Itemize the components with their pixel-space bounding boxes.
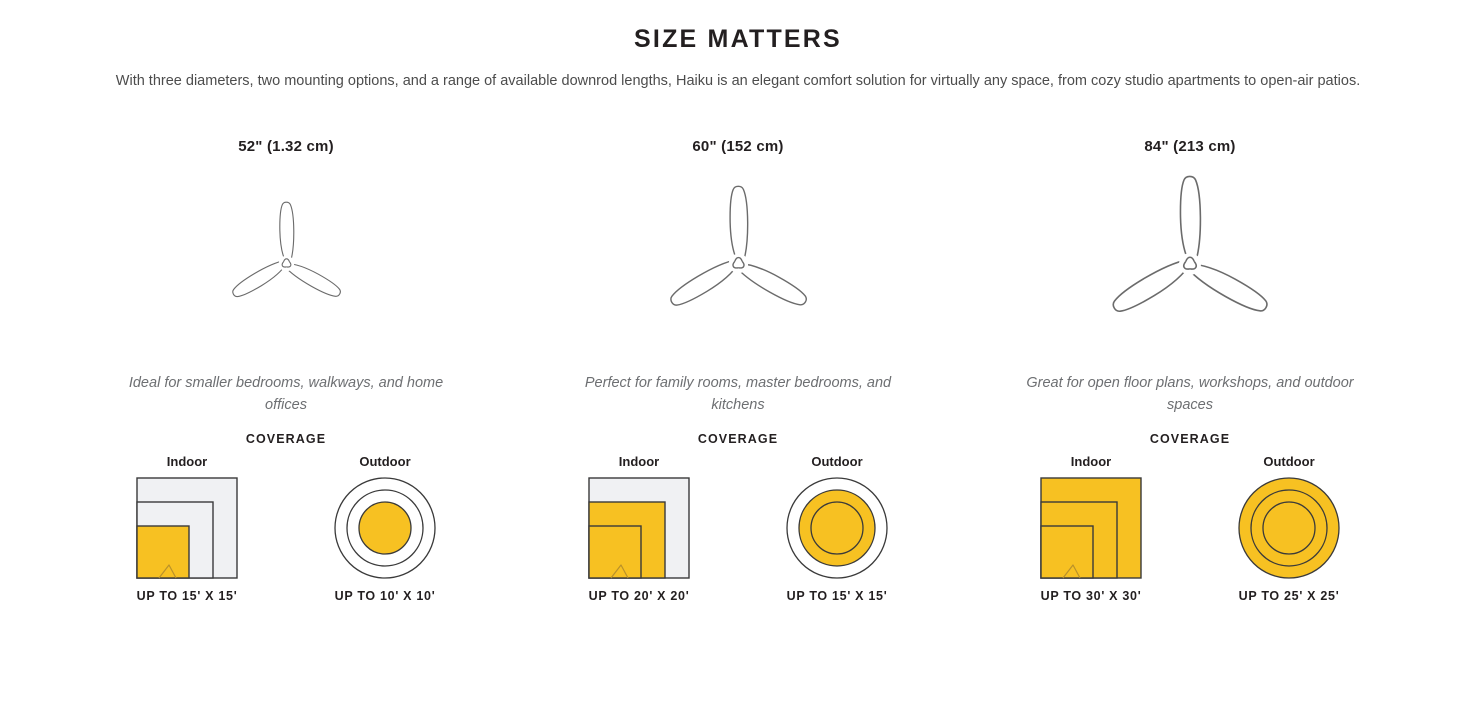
coverage-section: COVERAGEIndoorUP TO 20' X 20'OutdoorUP T… [512,432,964,603]
size-columns: 52" (1.32 cm)Ideal for smaller bedrooms,… [0,138,1476,604]
coverage-heading: COVERAGE [246,432,326,446]
fan-blade-illustration [213,190,360,337]
indoor-coverage-diagram [1040,477,1142,579]
coverage-square-level-1 [1041,526,1093,578]
coverage-item-label: Indoor [167,454,207,469]
coverage-square-level-1 [589,526,641,578]
coverage-item-value: UP TO 20' X 20' [589,589,690,603]
coverage-heading: COVERAGE [698,432,778,446]
size-caption: Perfect for family rooms, master bedroom… [573,373,903,417]
size-title: 84" (213 cm) [1144,138,1235,155]
coverage-heading: COVERAGE [1150,432,1230,446]
coverage-row: IndoorUP TO 15' X 15'OutdoorUP TO 10' X … [112,454,460,603]
fan-blade [279,203,293,264]
size-column-1: 52" (1.32 cm)Ideal for smaller bedrooms,… [60,138,512,604]
fan-hub [728,254,747,273]
coverage-figure [334,477,436,579]
coverage-row: IndoorUP TO 30' X 30'OutdoorUP TO 25' X … [1016,454,1364,603]
coverage-item-outdoor: OutdoorUP TO 15' X 15' [762,454,912,603]
page-header: SIZE MATTERS With three diameters, two m… [0,0,1476,92]
outdoor-coverage-diagram [786,477,888,579]
coverage-item-outdoor: OutdoorUP TO 10' X 10' [310,454,460,603]
page-subtitle: With three diameters, two mounting optio… [88,70,1388,92]
fan-illustration-wrapper [1085,169,1295,359]
coverage-item-label: Outdoor [811,454,862,469]
outdoor-coverage-diagram [334,477,436,579]
fan-blade-illustration [646,171,831,356]
fan-blade-illustration [1085,159,1295,369]
outdoor-coverage-diagram [1238,477,1340,579]
coverage-item-indoor: IndoorUP TO 15' X 15' [112,454,262,603]
fan-illustration-wrapper [213,169,360,359]
coverage-item-label: Outdoor [359,454,410,469]
coverage-section: COVERAGEIndoorUP TO 30' X 30'OutdoorUP T… [964,432,1416,603]
coverage-square-level-1 [137,526,189,578]
coverage-figure [1238,477,1340,579]
fan-blade [1180,176,1200,264]
coverage-figure [588,477,690,579]
coverage-item-label: Indoor [1071,454,1111,469]
size-title: 52" (1.32 cm) [238,138,334,155]
coverage-item-value: UP TO 15' X 15' [137,589,238,603]
indoor-coverage-diagram [136,477,238,579]
indoor-coverage-diagram [588,477,690,579]
coverage-figure [136,477,238,579]
coverage-item-value: UP TO 10' X 10' [335,589,436,603]
size-caption: Ideal for smaller bedrooms, walkways, an… [121,373,451,417]
size-title: 60" (152 cm) [692,138,783,155]
coverage-figure [1040,477,1142,579]
coverage-item-value: UP TO 30' X 30' [1041,589,1142,603]
coverage-item-indoor: IndoorUP TO 20' X 20' [564,454,714,603]
fan-illustration-wrapper [646,169,831,359]
size-matters-page: SIZE MATTERS With three diameters, two m… [0,0,1476,725]
coverage-item-outdoor: OutdoorUP TO 25' X 25' [1214,454,1364,603]
coverage-item-indoor: IndoorUP TO 30' X 30' [1016,454,1166,603]
coverage-figure [786,477,888,579]
coverage-circle-level-1 [811,502,863,554]
coverage-item-value: UP TO 25' X 25' [1239,589,1340,603]
coverage-section: COVERAGEIndoorUP TO 15' X 15'OutdoorUP T… [60,432,512,603]
fan-hub [278,256,293,271]
fan-hub [1179,253,1201,275]
size-column-3: 84" (213 cm)Great for open floor plans, … [964,138,1416,604]
coverage-circle-level-1 [359,502,411,554]
coverage-item-label: Indoor [619,454,659,469]
coverage-item-value: UP TO 15' X 15' [787,589,888,603]
size-caption: Great for open floor plans, workshops, a… [1025,373,1355,417]
coverage-circle-level-1 [1263,502,1315,554]
page-title: SIZE MATTERS [0,26,1476,54]
coverage-item-label: Outdoor [1263,454,1314,469]
size-column-2: 60" (152 cm)Perfect for family rooms, ma… [512,138,964,604]
coverage-row: IndoorUP TO 20' X 20'OutdoorUP TO 15' X … [564,454,912,603]
fan-blade [730,187,748,264]
